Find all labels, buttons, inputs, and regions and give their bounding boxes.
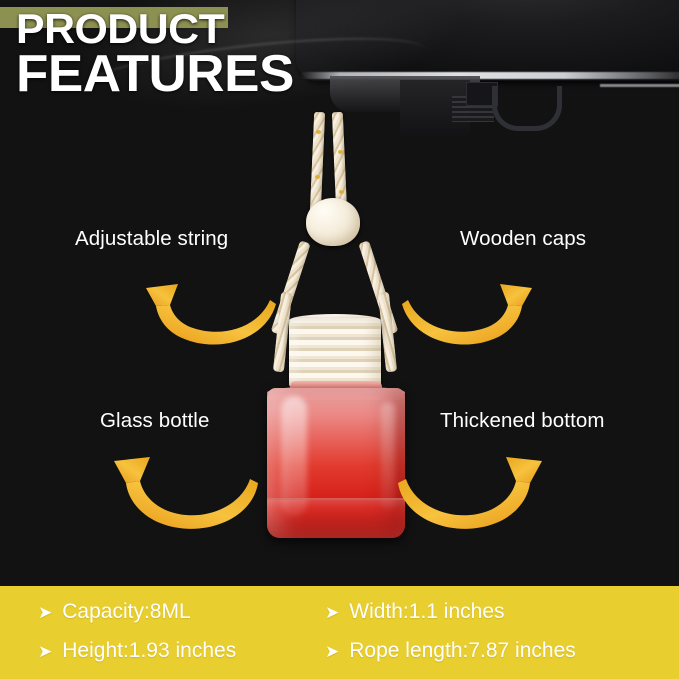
spec-item-capacity: ➤ Capacity:8ML [38,600,191,624]
spec-item-width: ➤ Width:1.1 inches [325,600,505,624]
callout-label-thickened-bottom: Thickened bottom [440,409,605,433]
spec-label-capacity: Capacity:8ML [62,600,190,624]
cord-gold-fleck [339,190,344,194]
curved-arrow-up-left-icon [140,258,280,358]
cord-gold-fleck [316,130,321,134]
glass-bottle [267,388,405,538]
callout-label-glass-bottle: Glass bottle [100,409,209,433]
bottle-thickened-base [267,498,405,538]
spec-label-width: Width:1.1 inches [349,600,504,624]
callout-label-wooden-caps: Wooden caps [460,227,586,251]
product-features-infographic: PRODUCT FEATURES Adjustable string Woode… [0,0,679,679]
triangle-bullet-icon: ➤ [38,643,52,660]
curved-arrow-up-right-icon [392,443,552,543]
cord-gold-fleck [315,175,320,179]
specs-banner: ➤ Capacity:8ML ➤ Height:1.93 inches ➤ Wi… [0,586,679,679]
curved-arrow-up-right-icon [398,258,538,358]
spec-item-height: ➤ Height:1.93 inches [38,639,236,663]
page-title-line-1: PRODUCT [16,8,224,50]
mirror-hook [492,86,562,131]
spec-label-height: Height:1.93 inches [62,639,236,663]
cord-gold-fleck [338,150,343,154]
spec-item-rope-length: ➤ Rope length:7.87 inches [325,639,576,663]
triangle-bullet-icon: ➤ [325,604,339,621]
ribbed-wooden-cap [289,318,381,390]
triangle-bullet-icon: ➤ [325,643,339,660]
wooden-bead [306,198,360,246]
callout-label-adjustable-string: Adjustable string [75,227,228,251]
spec-label-rope-length: Rope length:7.87 inches [349,639,576,663]
page-title-line-2: FEATURES [16,48,294,100]
curved-arrow-up-left-icon [104,443,264,543]
triangle-bullet-icon: ➤ [38,604,52,621]
